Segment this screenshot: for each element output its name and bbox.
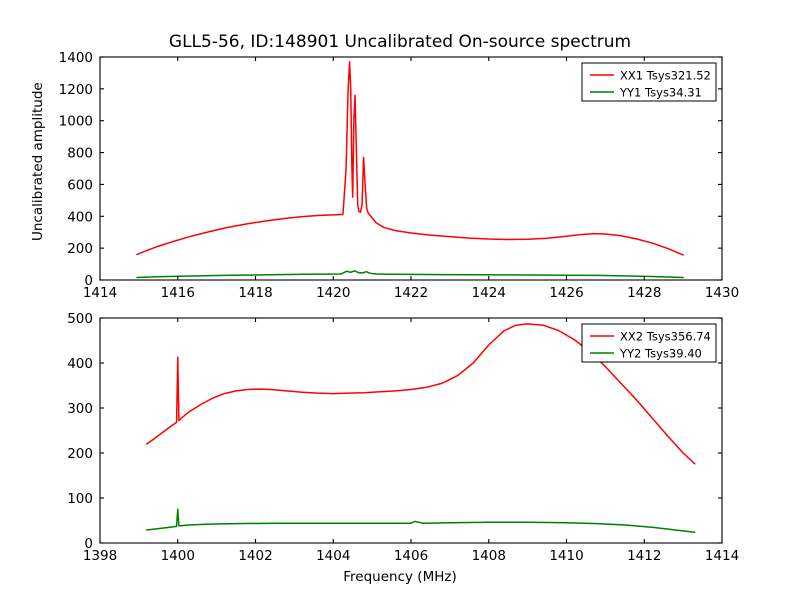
plot-canvas: 1414141614181420142214241426142814300200… <box>0 0 800 600</box>
x-tick-label: 1420 <box>316 285 350 301</box>
series-line-yy1 <box>137 271 683 278</box>
x-tick-label: 1416 <box>161 285 195 301</box>
x-tick-label: 1426 <box>549 285 583 301</box>
legend-label: YY1 Tsys34.31 <box>619 86 702 100</box>
spectrum-figure: GLL5-56, ID:148901 Uncalibrated On-sourc… <box>0 0 800 600</box>
y-tick-label: 0 <box>84 273 93 289</box>
x-tick-label: 1424 <box>472 285 506 301</box>
y-tick-label: 1400 <box>59 50 93 66</box>
legend-label: XX1 Tsys321.52 <box>620 69 711 83</box>
y-tick-label: 400 <box>67 356 93 372</box>
y-tick-label: 0 <box>84 536 93 552</box>
y-tick-label: 600 <box>67 177 93 193</box>
x-tick-label: 1422 <box>394 285 428 301</box>
x-tick-label: 1406 <box>394 548 428 564</box>
legend-label: YY2 Tsys39.40 <box>619 347 702 361</box>
series-line-yy2 <box>147 509 695 532</box>
x-tick-label: 1418 <box>238 285 272 301</box>
x-tick-label: 1428 <box>627 285 661 301</box>
legend-label: XX2 Tsys356.74 <box>620 330 711 344</box>
y-tick-label: 800 <box>67 146 93 162</box>
y-tick-label: 500 <box>67 311 93 327</box>
x-tick-label: 1402 <box>238 548 272 564</box>
legend-top[interactable]: XX1 Tsys321.52YY1 Tsys34.31 <box>582 63 716 101</box>
x-tick-label: 1430 <box>705 285 739 301</box>
x-tick-label: 1410 <box>549 548 583 564</box>
x-tick-label: 1404 <box>316 548 350 564</box>
x-tick-label: 1414 <box>705 548 739 564</box>
x-tick-label: 1412 <box>627 548 661 564</box>
y-tick-label: 200 <box>67 241 93 257</box>
y-tick-label: 1000 <box>59 114 93 130</box>
y-tick-label: 400 <box>67 209 93 225</box>
y-tick-label: 100 <box>67 491 93 507</box>
axes-panel-top: 1414141614181420142214241426142814300200… <box>59 50 740 301</box>
y-tick-label: 1200 <box>59 82 93 98</box>
axes-panel-bottom: 1398140014021404140614081410141214140100… <box>67 311 739 564</box>
x-tick-label: 1408 <box>472 548 506 564</box>
y-tick-label: 200 <box>67 446 93 462</box>
legend-bottom[interactable]: XX2 Tsys356.74YY2 Tsys39.40 <box>582 324 716 362</box>
y-tick-label: 300 <box>67 401 93 417</box>
x-tick-label: 1400 <box>161 548 195 564</box>
